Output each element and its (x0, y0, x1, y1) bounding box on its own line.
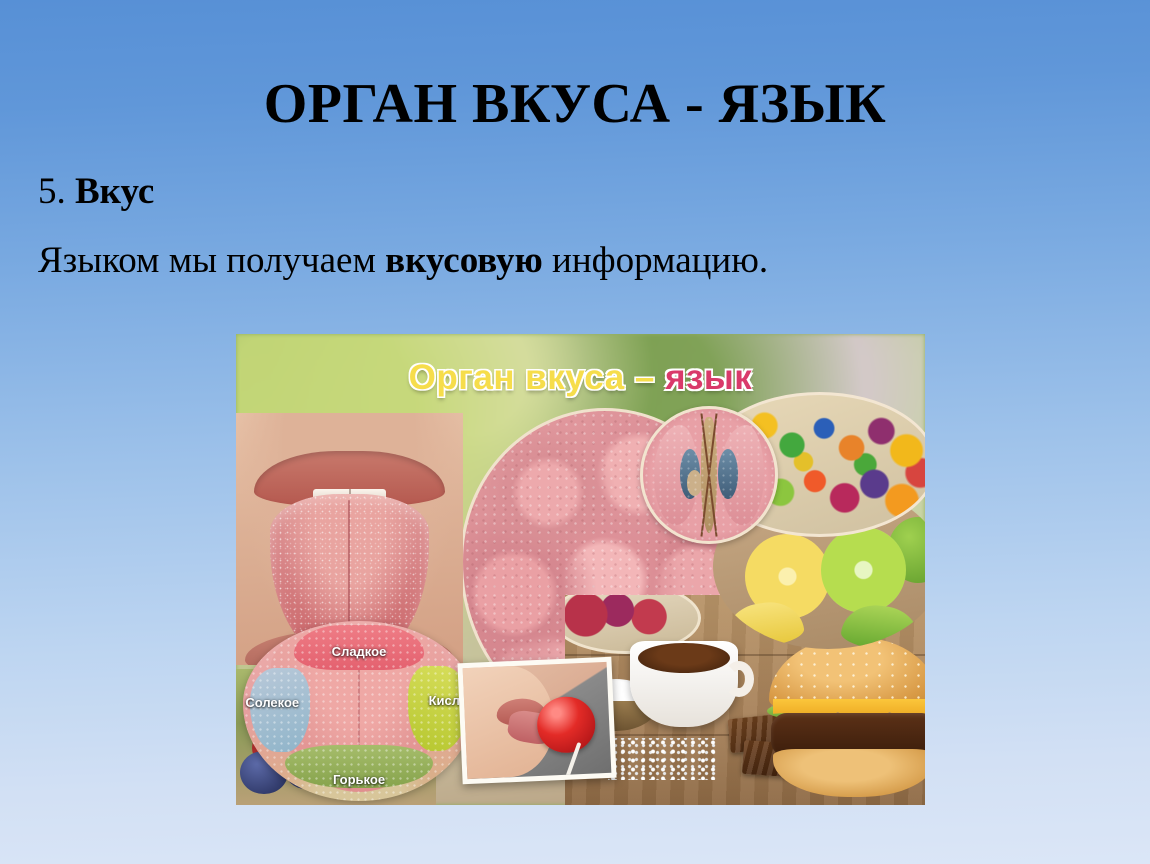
coffee-surface (638, 643, 730, 673)
sentence-suffix: информацию. (543, 240, 768, 281)
sentence-prefix: Языком мы получаем (38, 240, 385, 281)
coarse-salt-pile (608, 738, 718, 780)
bullet-line-1: 5. Вкус (38, 170, 154, 213)
red-lollipop (536, 696, 596, 754)
lollipop-photo-inner (463, 662, 612, 779)
poster-heading-part1: Орган вкуса (409, 358, 625, 397)
sentence-bold-word: вкусовую (385, 240, 543, 281)
inset-texture (643, 409, 775, 541)
bullet-heading-vkus: Вкус (66, 171, 155, 212)
tongue-taste-zones-diagram: Сладкое Солекое Кислое Горькое (243, 621, 475, 801)
poster-heading-part2: язык (665, 358, 752, 397)
poster-heading: Орган вкуса – язык (236, 360, 925, 395)
burger-bottom-bun (773, 749, 925, 797)
label-sweet: Сладкое (332, 644, 387, 659)
label-bitter: Горькое (333, 772, 385, 787)
cup-handle (724, 661, 754, 697)
lime-slice (821, 527, 906, 613)
woman-licking-lollipop-photo (457, 657, 616, 785)
label-salty: Солекое (245, 695, 299, 710)
bullet-line-2: Языком мы получаем вкусовую информацию. (38, 239, 768, 282)
poster-image: Орган вкуса – язык (236, 334, 925, 805)
poster-heading-dash: – (625, 358, 665, 397)
bullet-number: 5. (38, 171, 66, 212)
taste-bud-cross-section-inset (640, 406, 778, 544)
cheeseburger (769, 637, 925, 797)
page-title: ОРГАН ВКУСА - ЯЗЫК (0, 72, 1150, 136)
